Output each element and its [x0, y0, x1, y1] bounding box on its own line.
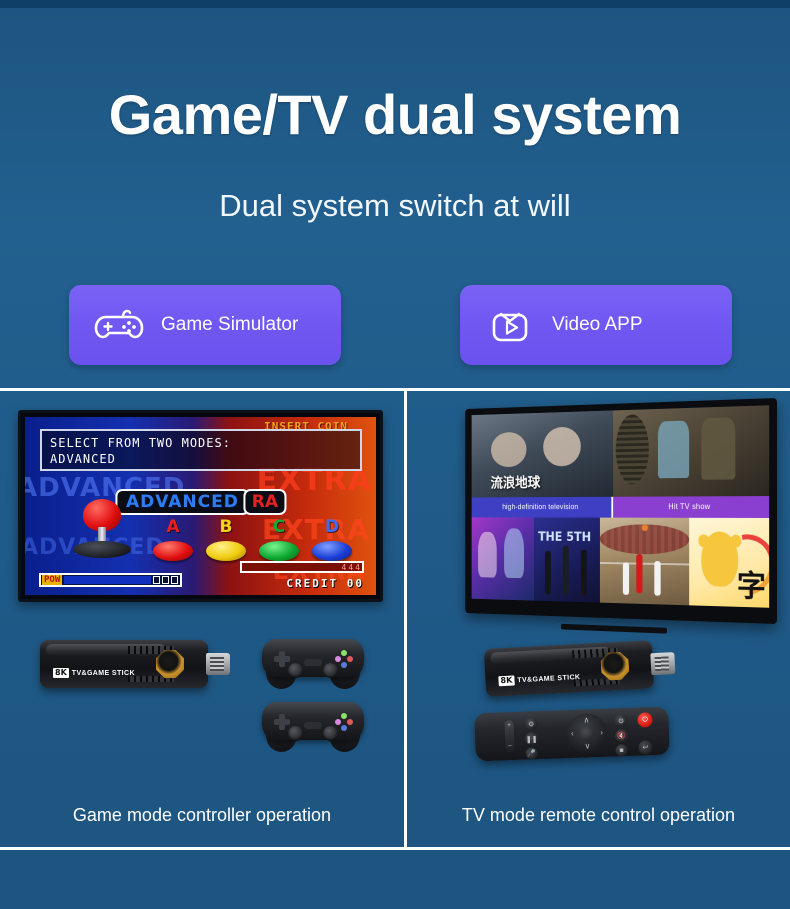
tv-tile-idol-show[interactable]: [472, 517, 535, 601]
game-controller: [262, 696, 364, 754]
score-value: 444: [342, 563, 362, 572]
panel-tv-mode: 流浪地球 high-definition television Hit TV s…: [407, 388, 790, 850]
promo-page: Game/TV dual system Dual system switch a…: [0, 0, 790, 909]
tile-figure: [658, 420, 689, 478]
dpad-right-icon[interactable]: ›: [600, 729, 603, 737]
arcade-button-d: [312, 541, 352, 561]
controller-body: [262, 639, 364, 677]
stick-emblem-icon: [156, 650, 184, 678]
tv-game-stick-device: 8K TV&GAME STICK: [484, 639, 676, 697]
tile-figure: [478, 532, 497, 578]
hero-section: Game/TV dual system Dual system switch a…: [0, 8, 790, 383]
controller-analog-stick: [288, 663, 303, 678]
tile-figure: [581, 549, 587, 595]
face-button: [341, 650, 347, 656]
stick-branding: 8K TV&GAME STICK: [498, 672, 580, 686]
stick-body: 8K TV&GAME STICK: [484, 640, 654, 697]
volume-down-label: −: [508, 743, 512, 750]
tile-player: [637, 554, 643, 594]
dpad-up-icon[interactable]: ∧: [583, 716, 589, 724]
tv-frame: 流浪地球 high-definition television Hit TV s…: [465, 398, 777, 624]
settings-icon[interactable]: ⚙: [524, 717, 537, 730]
panel-caption-tv: TV mode remote control operation: [407, 805, 790, 826]
face-button: [341, 725, 347, 731]
tile-figure: [545, 551, 551, 595]
arcade-button-label-b: B: [206, 517, 246, 537]
mode-prompt-line-1: SELECT FROM TWO MODES:: [50, 435, 360, 451]
dpad-down-icon[interactable]: ∨: [584, 742, 590, 750]
power-icon[interactable]: ⏻: [637, 712, 653, 728]
face-button: [335, 719, 341, 725]
tile-figure: [702, 417, 735, 480]
face-button: [347, 719, 353, 725]
hdmi-pins: [655, 656, 670, 671]
tv-game-stick-device: 8K TV&GAME STICK: [40, 640, 230, 688]
arcade-joystick: [73, 499, 131, 559]
credit-label: CREDIT: [286, 577, 338, 590]
page-title: Game/TV dual system: [0, 86, 790, 145]
face-button: [335, 656, 341, 662]
tile-figure: [563, 546, 569, 595]
apps-icon[interactable]: ■: [615, 744, 627, 756]
mode-prompt-box: SELECT FROM TWO MODES: ADVANCED: [40, 429, 362, 471]
panel-game-mode: ADVANCED EXTRA EXTRA ADVANCED EXTRA INSE…: [0, 388, 404, 850]
tv-label-high-definition: high-definition television: [472, 496, 613, 517]
arcade-button-row: A B C D: [153, 509, 353, 561]
tile-figure: [544, 427, 581, 467]
panel-caption-game: Game mode controller operation: [0, 805, 404, 826]
arcade-button-label-c: C: [259, 517, 299, 537]
tile-player: [655, 561, 661, 596]
tv-remote-control: + − ⚙ ❚❚ 🎤 ∧ ∨ ‹ › ⚙ 🔇 ■: [474, 707, 670, 762]
tile-character-text: 字: [737, 562, 766, 606]
tv-label-hit-show: Hit TV show: [613, 496, 769, 518]
tv-content-grid: 流浪地球 high-definition television Hit TV s…: [472, 405, 770, 608]
controller-face-buttons: [335, 713, 353, 731]
tv-tile-dance-show[interactable]: THE 5TH: [534, 517, 599, 603]
resolution-badge: 8K: [498, 675, 514, 686]
stick-branding: 8K TV&GAME STICK: [53, 668, 135, 678]
gamepad-icon: [83, 306, 155, 344]
resolution-badge: 8K: [53, 668, 69, 678]
tv-tile-astronaut-movie[interactable]: 流浪地球: [472, 410, 613, 497]
arcade-button-b: [206, 541, 246, 561]
face-button: [341, 713, 347, 719]
tile-player: [622, 562, 628, 595]
volume-up-label: +: [507, 722, 511, 729]
arcade-button-a: [153, 541, 193, 561]
bear-ear: [699, 535, 709, 547]
panels-section: ADVANCED EXTRA EXTRA ADVANCED EXTRA INSE…: [0, 388, 790, 850]
hdmi-connector: [650, 652, 675, 675]
pause-icon[interactable]: ❚❚: [525, 732, 538, 745]
feature-pill-group: Game Simulator Video APP: [0, 285, 790, 373]
tile-title-text: THE 5TH: [538, 530, 591, 544]
controller-face-buttons: [335, 650, 353, 668]
arcade-screen-tv: ADVANCED EXTRA EXTRA ADVANCED EXTRA INSE…: [18, 410, 383, 602]
mic-icon[interactable]: 🎤: [525, 747, 537, 759]
power-bar-segment: [153, 576, 160, 584]
controller-center-buttons: [304, 722, 322, 729]
face-button: [347, 656, 353, 662]
tile-figure: [491, 432, 527, 468]
feature-pill-video-app[interactable]: Video APP: [460, 285, 732, 365]
arcade-screen: ADVANCED EXTRA EXTRA ADVANCED EXTRA INSE…: [25, 417, 376, 595]
controller-analog-stick: [323, 726, 338, 741]
tv-tile-historical-drama[interactable]: [613, 405, 769, 496]
controller-center-buttons: [304, 659, 322, 666]
dpad-left-icon[interactable]: ‹: [571, 730, 574, 738]
top-strip: [0, 0, 790, 8]
volume-rocker[interactable]: + −: [504, 720, 514, 752]
tile-title-text: 流浪地球: [491, 472, 541, 492]
hdmi-pins: [210, 657, 224, 671]
joystick-base: [73, 541, 131, 558]
hdmi-connector: [206, 653, 230, 675]
feature-pill-label: Video APP: [552, 314, 643, 336]
television: 流浪地球 high-definition television Hit TV s…: [465, 398, 777, 624]
tv-row-bottom: THE 5TH: [472, 517, 770, 608]
power-bar-segment: [162, 576, 169, 584]
controller-dpad: [274, 651, 290, 667]
arcade-button-c: [259, 541, 299, 561]
stick-body: 8K TV&GAME STICK: [40, 640, 208, 688]
controller-analog-stick: [323, 663, 338, 678]
game-controller: [262, 633, 364, 691]
dpad-ring[interactable]: ∧ ∨ ‹ ›: [566, 713, 607, 754]
feature-pill-game-simulator[interactable]: Game Simulator: [69, 285, 341, 365]
credit-value: 00: [347, 577, 364, 590]
tile-court-line: [600, 562, 689, 565]
power-bar-fill: [64, 576, 151, 584]
bear-ear: [731, 535, 741, 547]
tv-play-icon: [474, 304, 546, 346]
controller-analog-stick: [288, 726, 303, 741]
tv-tile-basketball-game[interactable]: [600, 517, 689, 605]
mute-icon[interactable]: 🔇: [615, 729, 628, 742]
tile-backdrop: [616, 414, 649, 484]
power-bar-segment: [171, 576, 178, 584]
controller-dpad: [274, 714, 290, 730]
page-subtitle: Dual system switch at will: [0, 188, 790, 224]
power-bar-label: POW: [42, 575, 62, 585]
tv-tile-kids-education[interactable]: 字: [689, 517, 769, 607]
power-bar: POW: [39, 573, 182, 587]
feature-pill-label: Game Simulator: [161, 314, 298, 336]
tv-stand: [561, 624, 667, 634]
credit-readout: CREDIT 00: [286, 577, 364, 590]
device-name: TV&GAME STICK: [72, 670, 135, 677]
tile-bear-icon: [702, 531, 739, 587]
tile-figure: [504, 529, 524, 579]
back-icon[interactable]: ↩: [638, 740, 652, 754]
ok-button[interactable]: [579, 726, 595, 742]
controller-body: [262, 702, 364, 740]
arcade-button-label-a: A: [153, 517, 193, 537]
arcade-button-label-d: D: [312, 517, 352, 537]
mode-prompt-line-2: ADVANCED: [50, 451, 360, 467]
remote-body: + − ⚙ ❚❚ 🎤 ∧ ∨ ‹ › ⚙ 🔇 ■: [474, 707, 670, 762]
device-name: TV&GAME STICK: [517, 673, 580, 683]
face-button: [341, 662, 347, 668]
home-icon[interactable]: ⚙: [614, 714, 627, 727]
